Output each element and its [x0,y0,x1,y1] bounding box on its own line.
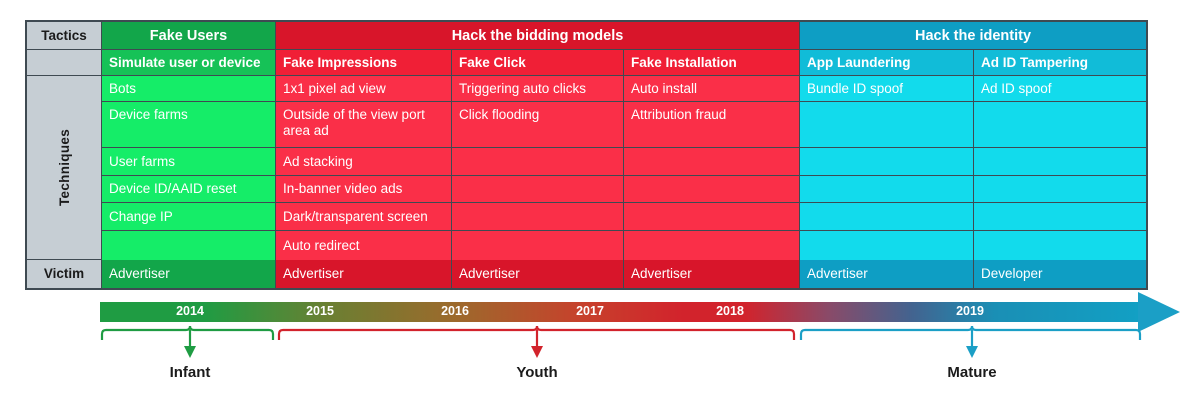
cell-technique [800,203,974,231]
pointer-arrow-infant [184,346,196,358]
table-row-tactics: Tactics Fake Users Hack the bidding mode… [27,22,1146,50]
cell-technique [974,203,1146,231]
tactic-header-fake-users: Fake Users [102,22,276,50]
column-header-app-laundering: App Laundering [800,50,974,76]
cell-technique: Bots [102,76,276,102]
cell-technique [452,231,624,260]
cell-victim: Advertiser [102,260,276,288]
cell-technique: Triggering auto clicks [452,76,624,102]
cell-victim: Advertiser [276,260,452,288]
cell-technique [102,231,276,260]
cell-technique: Ad ID spoof [974,76,1146,102]
cell-technique [452,148,624,176]
column-header-fake-installation: Fake Installation [624,50,800,76]
pointer-arrow-mature [966,346,978,358]
ad-fraud-matrix-table: Tactics Fake Users Hack the bidding mode… [25,20,1148,290]
cell-technique: Attribution fraud [624,102,800,148]
table-row: Device ID/AAID reset In-banner video ads [102,176,1146,203]
techniques-label-text: Techniques [57,129,72,206]
tactics-label-cell: Tactics [27,22,102,50]
cell-technique: In-banner video ads [276,176,452,203]
cell-technique [800,148,974,176]
bracket-infant [102,326,273,340]
cell-technique: Auto redirect [276,231,452,260]
cell-technique [452,176,624,203]
table-row: Change IP Dark/transparent screen [102,203,1146,231]
cell-technique: Click flooding [452,102,624,148]
cell-technique [800,231,974,260]
cell-technique: Change IP [102,203,276,231]
techniques-rows: Bots 1x1 pixel ad view Triggering auto c… [102,76,1146,260]
cell-victim: Advertiser [800,260,974,288]
table-row: Bots 1x1 pixel ad view Triggering auto c… [102,76,1146,102]
phase-label-youth: Youth [457,364,617,381]
cell-technique: Device ID/AAID reset [102,176,276,203]
table-row: Auto redirect [102,231,1146,260]
column-header-ad-id-tampering: Ad ID Tampering [974,50,1146,76]
tactic-header-hack-bidding-models: Hack the bidding models [276,22,800,50]
cell-technique [452,203,624,231]
cell-technique [974,102,1146,148]
pointer-arrow-youth [531,346,543,358]
cell-technique: Outside of the view port area ad [276,102,452,148]
cell-technique: Device farms [102,102,276,148]
cell-victim: Developer [974,260,1146,288]
cell-technique [974,231,1146,260]
table-row-column-headers: Simulate user or device Fake Impressions… [27,50,1146,76]
cell-victim: Advertiser [452,260,624,288]
column-header-fake-impressions: Fake Impressions [276,50,452,76]
phase-label-infant: Infant [110,364,270,381]
cell-technique: 1x1 pixel ad view [276,76,452,102]
victim-label-cell: Victim [27,260,102,288]
column-header-simulate-user-or-device: Simulate user or device [102,50,276,76]
maturity-timeline: 2014 2015 2016 2017 2018 2019 Infant You… [0,292,1200,406]
table-row: Device farms Outside of the view port ar… [102,102,1146,148]
cell-technique [800,176,974,203]
cell-technique: Bundle ID spoof [800,76,974,102]
cell-technique [624,148,800,176]
cell-technique [624,203,800,231]
tactic-header-hack-identity: Hack the identity [800,22,1146,50]
techniques-spacer-cell [27,50,102,76]
cell-technique: User farms [102,148,276,176]
table-row: User farms Ad stacking [102,148,1146,176]
infographic-root: Tactics Fake Users Hack the bidding mode… [0,0,1200,406]
cell-technique [624,176,800,203]
cell-technique: Dark/transparent screen [276,203,452,231]
column-header-fake-click: Fake Click [452,50,624,76]
phase-brackets [0,292,1200,406]
cell-technique [974,148,1146,176]
cell-technique [974,176,1146,203]
cell-technique [624,231,800,260]
phase-label-mature: Mature [892,364,1052,381]
techniques-section: Techniques Bots 1x1 pixel ad view Trigge… [27,76,1146,260]
techniques-vertical-label: Techniques [27,76,102,260]
cell-technique: Ad stacking [276,148,452,176]
cell-victim: Advertiser [624,260,800,288]
table-row-victim: Victim Advertiser Advertiser Advertiser … [27,260,1146,288]
cell-technique: Auto install [624,76,800,102]
bracket-mature [801,326,1140,340]
cell-technique [800,102,974,148]
